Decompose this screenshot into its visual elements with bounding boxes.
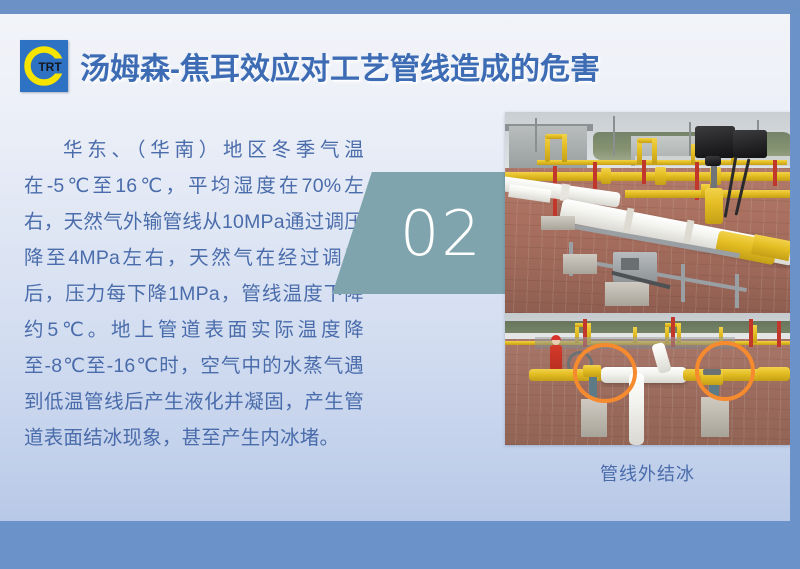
trt-logo-icon: TRT bbox=[20, 40, 68, 92]
top-accent-band bbox=[0, 0, 800, 14]
photo-caption: 管线外结冰 bbox=[505, 460, 790, 486]
annotation-circle-right bbox=[695, 341, 755, 401]
pipeline-yard-photo bbox=[505, 112, 790, 313]
page-title: 汤姆森-焦耳效应对工艺管线造成的危害 bbox=[80, 44, 600, 88]
annotation-circle-left bbox=[573, 343, 637, 403]
svg-text:TRT: TRT bbox=[38, 60, 62, 74]
slide-root: TRT 汤姆森-焦耳效应对工艺管线造成的危害 华东、（华南）地区冬季气温在-5℃… bbox=[0, 0, 800, 569]
bottom-accent-band bbox=[0, 521, 800, 569]
pipe-icing-photo bbox=[505, 313, 790, 445]
right-accent-band bbox=[790, 14, 800, 521]
body-paragraph: 华东、（华南）地区冬季气温在-5℃至16℃，平均湿度在70%左右，天然气外输管线… bbox=[24, 132, 364, 456]
section-number-label: 02 bbox=[400, 197, 483, 270]
slide-header: TRT 汤姆森-焦耳效应对工艺管线造成的危害 bbox=[20, 40, 600, 92]
photo-stack bbox=[505, 112, 790, 445]
